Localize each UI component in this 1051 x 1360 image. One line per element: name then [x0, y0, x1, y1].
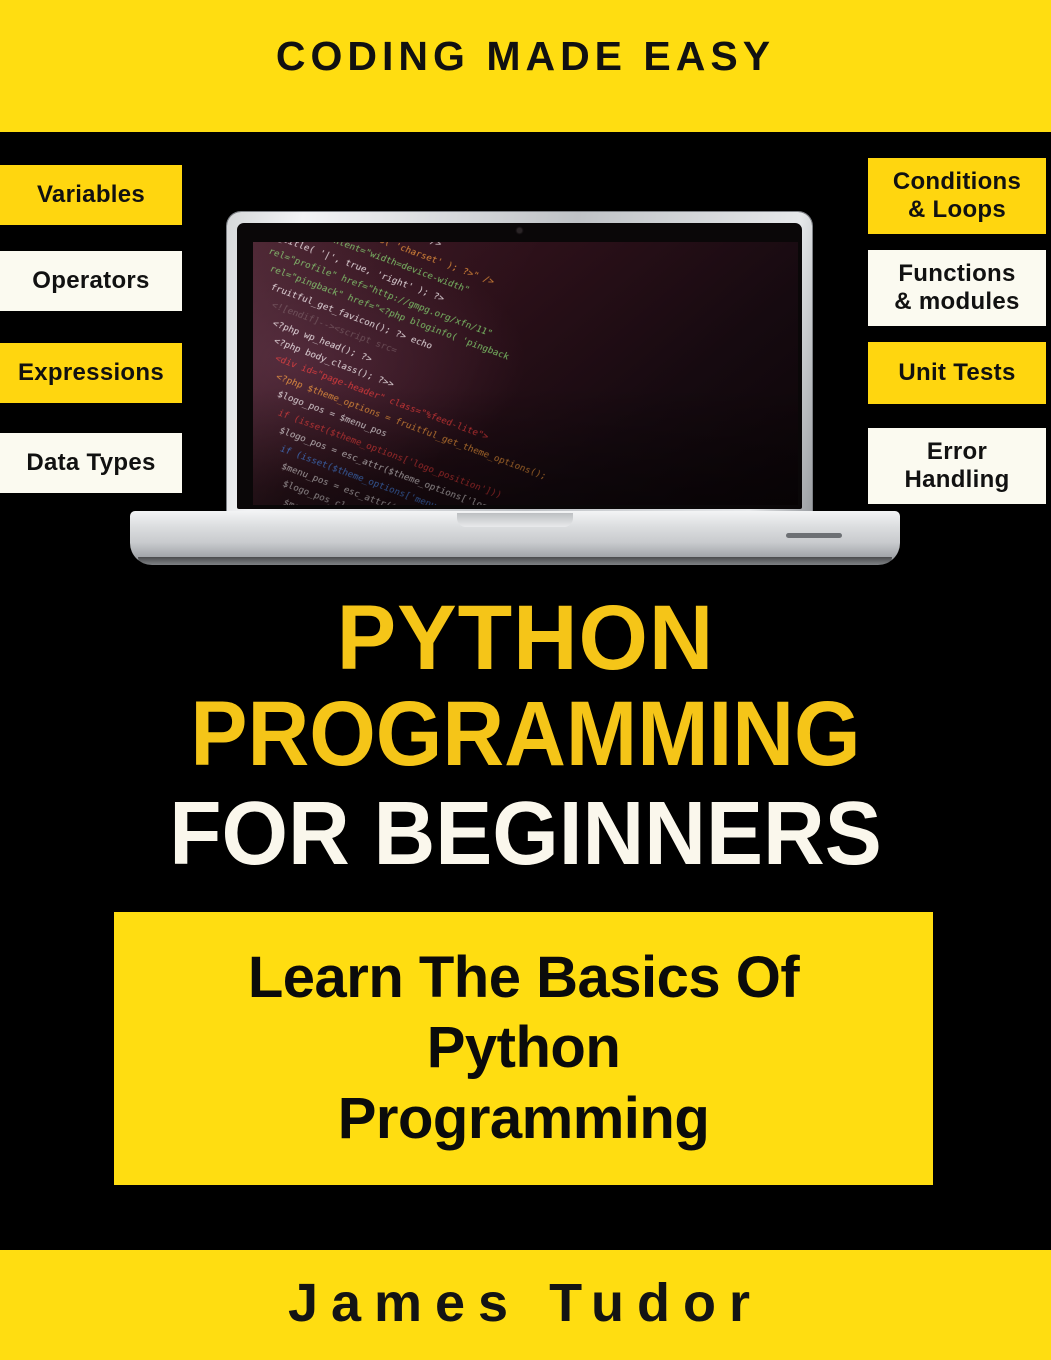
- bottom-banner: James Tudor: [0, 1250, 1051, 1360]
- subtitle-line-1: Learn The Basics Of: [248, 943, 799, 1013]
- laptop-screen: <?php language_attributes(); ?><?php blo…: [253, 242, 798, 505]
- author-name: James Tudor: [0, 1272, 1051, 1334]
- topic-chip-label: Unit Tests: [898, 359, 1015, 387]
- topic-chip-line1: Conditions: [893, 168, 1021, 195]
- topic-chip-line2: Handling: [904, 466, 1009, 493]
- webcam-icon: [517, 228, 522, 233]
- title-line-2: PROGRAMMING: [37, 690, 1014, 778]
- book-cover: CODING MADE EASY Variables Operators Exp…: [0, 0, 1051, 1360]
- subtitle-line-3: Programming: [338, 1084, 710, 1154]
- laptop-base-slot: [786, 533, 842, 538]
- topic-chip-label: Variables: [37, 181, 145, 209]
- top-banner: CODING MADE EASY: [0, 0, 1051, 132]
- topic-chip-label: Functions & modules: [894, 260, 1019, 317]
- laptop-base-shadow: [138, 557, 892, 567]
- laptop-base-notch: [457, 513, 573, 527]
- series-tagline: CODING MADE EASY: [0, 33, 1051, 80]
- laptop-illustration: <?php language_attributes(); ?><?php blo…: [130, 190, 900, 570]
- topic-chip-line1: Functions: [898, 260, 1015, 287]
- topic-chip-line2: & modules: [894, 288, 1019, 315]
- topic-chip-line2: & Loops: [908, 196, 1006, 223]
- laptop-base: [130, 511, 900, 565]
- topic-chip-label: Conditions & Loops: [893, 168, 1021, 225]
- book-title: PYTHON PROGRAMMING FOR BEGINNERS: [0, 594, 1051, 877]
- laptop-lid: <?php language_attributes(); ?><?php blo…: [227, 212, 812, 517]
- title-line-1: PYTHON: [16, 594, 1035, 682]
- book-subtitle-box: Learn The Basics Of Python Programming: [114, 912, 933, 1185]
- subtitle-line-2: Python: [427, 1013, 621, 1083]
- screen-code-text: <?php language_attributes(); ?><?php blo…: [253, 242, 798, 505]
- topic-chip-label: Error Handling: [904, 438, 1009, 495]
- title-line-3: FOR BEGINNERS: [26, 791, 1024, 877]
- laptop-bezel: <?php language_attributes(); ?><?php blo…: [237, 223, 802, 509]
- topic-chip-line1: Error: [927, 438, 987, 465]
